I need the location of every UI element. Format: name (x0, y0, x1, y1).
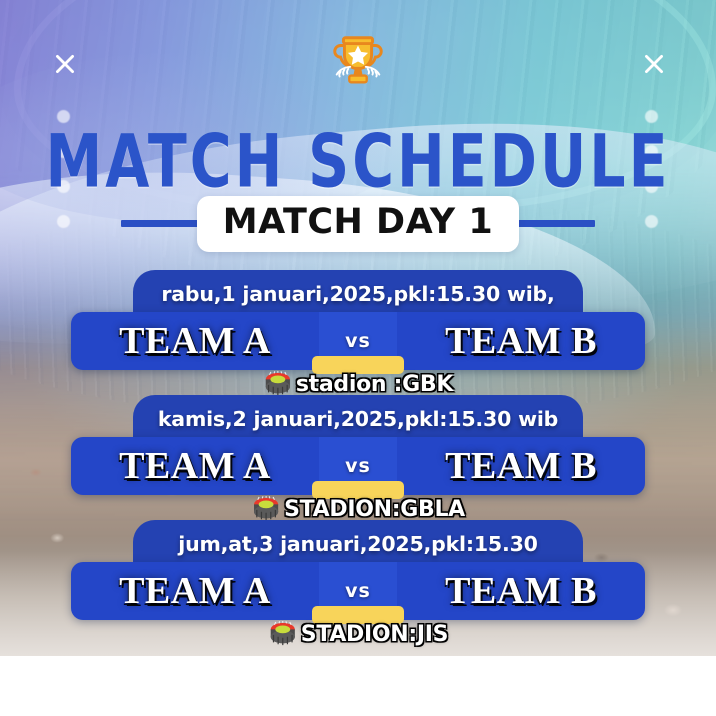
home-team-name: TEAM A (71, 569, 319, 613)
venue-row: stadion :GBK (263, 371, 453, 397)
match-row[interactable]: jum,at,3 januari,2025,pkl:15.30 TEAM A v… (0, 520, 716, 645)
stadium-icon (268, 621, 298, 647)
stadium-icon (263, 371, 293, 397)
match-row[interactable]: kamis,2 januari,2025,pkl:15.30 wib TEAM … (0, 395, 716, 520)
trophy-icon (327, 30, 389, 92)
venue-row: STADION:GBLA (251, 496, 465, 522)
venue-row: STADION:JIS (268, 621, 448, 647)
match-list: rabu,1 januari,2025,pkl:15.30 wib, TEAM … (0, 270, 716, 645)
stadium-icon (251, 496, 281, 522)
away-team-name: TEAM B (397, 444, 645, 488)
venue-name: STADION:JIS (301, 622, 448, 647)
match-row[interactable]: rabu,1 januari,2025,pkl:15.30 wib, TEAM … (0, 270, 716, 395)
home-team-name: TEAM A (71, 444, 319, 488)
home-team-name: TEAM A (71, 319, 319, 363)
venue-name: STADION:GBLA (284, 497, 465, 522)
close-icon[interactable] (52, 51, 78, 77)
match-schedule-poster: MATCH SCHEDULE MATCH DAY 1 rabu,1 januar… (0, 0, 716, 716)
match-day-badge-row: MATCH DAY 1 (0, 196, 716, 252)
close-icon[interactable] (641, 51, 667, 77)
match-day-badge: MATCH DAY 1 (197, 196, 519, 252)
page-title: MATCH SCHEDULE (0, 120, 716, 204)
away-team-name: TEAM B (397, 319, 645, 363)
away-team-name: TEAM B (397, 569, 645, 613)
venue-name: stadion :GBK (296, 372, 453, 397)
